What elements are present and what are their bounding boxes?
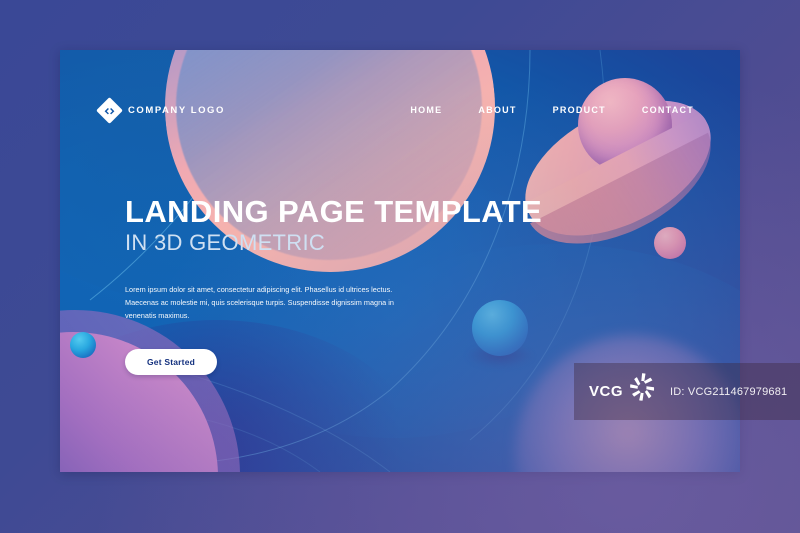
vcg-petal-burst-icon xyxy=(625,371,661,412)
screenshot-canvas: COMPANY LOGO HOME ABOUT PRODUCT CONTACT … xyxy=(0,0,800,533)
site-header: COMPANY LOGO HOME ABOUT PRODUCT CONTACT xyxy=(60,50,740,170)
brand-logo[interactable]: COMPANY LOGO xyxy=(100,101,225,120)
vcg-logo: VCG xyxy=(589,371,661,412)
vcg-wordmark: VCG xyxy=(589,383,623,400)
main-navigation: HOME ABOUT PRODUCT CONTACT xyxy=(410,105,694,115)
brand-name-label: COMPANY LOGO xyxy=(128,105,225,116)
get-started-button[interactable]: Get Started xyxy=(125,349,217,375)
hero-body-text: Lorem ipsum dolor sit amet, consectetur … xyxy=(125,284,407,322)
vcg-image-id: ID: VCG211467979681 xyxy=(670,386,787,398)
diamond-code-logo-icon xyxy=(96,97,123,124)
vcg-watermark: VCG ID: VCG211467979681 xyxy=(574,363,800,420)
nav-item-home[interactable]: HOME xyxy=(410,105,442,115)
small-cyan-sphere xyxy=(70,332,96,358)
small-pink-sphere xyxy=(654,227,686,259)
nav-item-product[interactable]: PRODUCT xyxy=(553,105,606,115)
hero-headline: LANDING PAGE TEMPLATE xyxy=(125,195,545,228)
hero-content: LANDING PAGE TEMPLATE IN 3D GEOMETRIC Lo… xyxy=(125,195,545,375)
nav-item-about[interactable]: ABOUT xyxy=(478,105,516,115)
hero-subheadline: IN 3D GEOMETRIC xyxy=(125,230,545,256)
nav-item-contact[interactable]: CONTACT xyxy=(642,105,694,115)
